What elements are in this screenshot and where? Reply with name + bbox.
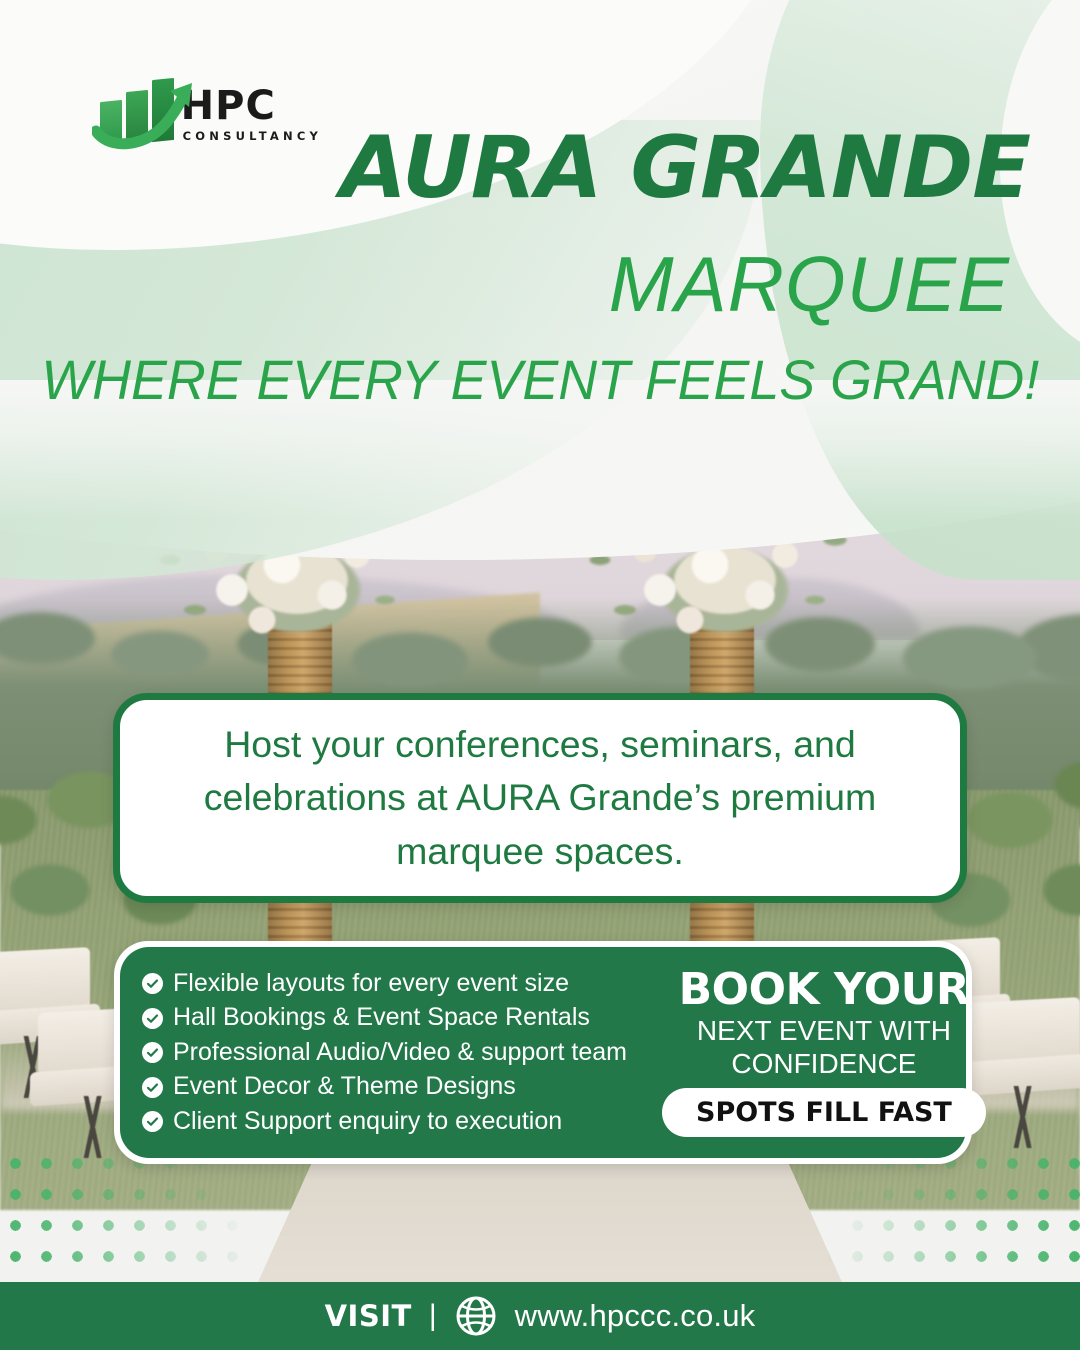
feature-label: Hall Bookings & Event Space Rentals	[173, 1003, 590, 1033]
check-circle-icon	[142, 973, 163, 994]
footer-website-url[interactable]: www.hpccc.co.uk	[515, 1298, 756, 1334]
list-item: Professional Audio/Video & support team	[142, 1038, 662, 1068]
page-tagline: WHERE EVERY EVENT FEELS GRAND!	[41, 352, 1035, 408]
cta-headline: BOOK YOUR	[679, 968, 970, 1013]
check-circle-icon	[142, 1111, 163, 1132]
feature-label: Event Decor & Theme Designs	[173, 1072, 516, 1102]
list-item: Client Support enquiry to execution	[142, 1107, 662, 1137]
footer-separator: |	[429, 1299, 437, 1333]
page-title-sub: MARQUEE	[0, 245, 1010, 323]
page-title-main: AURA GRANDE	[0, 125, 1030, 211]
spots-fill-fast-button[interactable]: SPOTS FILL FAST	[662, 1088, 986, 1137]
check-circle-icon	[142, 1042, 163, 1063]
list-item: Event Decor & Theme Designs	[142, 1072, 662, 1102]
feature-label: Professional Audio/Video & support team	[173, 1038, 627, 1068]
intro-card: Host your conferences, seminars, and cel…	[113, 693, 967, 903]
cta-block: BOOK YOUR NEXT EVENT WITH CONFIDENCE SPO…	[662, 963, 1000, 1142]
poster-canvas: HPC CONSULTANCY AURA GRANDE MARQUEE WHER…	[0, 0, 1080, 1350]
features-cta-panel: Flexible layouts for every event size Ha…	[114, 941, 972, 1164]
list-item: Flexible layouts for every event size	[142, 969, 662, 999]
feature-list: Flexible layouts for every event size Ha…	[142, 963, 662, 1142]
feature-label: Client Support enquiry to execution	[173, 1107, 562, 1137]
intro-text: Host your conferences, seminars, and cel…	[120, 718, 960, 878]
cta-subline-1: NEXT EVENT WITH	[697, 1015, 951, 1046]
check-circle-icon	[142, 1008, 163, 1029]
globe-icon	[454, 1294, 498, 1338]
feature-label: Flexible layouts for every event size	[173, 969, 569, 999]
list-item: Hall Bookings & Event Space Rentals	[142, 1003, 662, 1033]
check-circle-icon	[142, 1077, 163, 1098]
footer-visit-label: VISIT	[325, 1299, 412, 1333]
footer-bar: VISIT | www.hpccc.co.uk	[0, 1282, 1080, 1350]
cta-subline-2: CONFIDENCE	[731, 1048, 916, 1079]
